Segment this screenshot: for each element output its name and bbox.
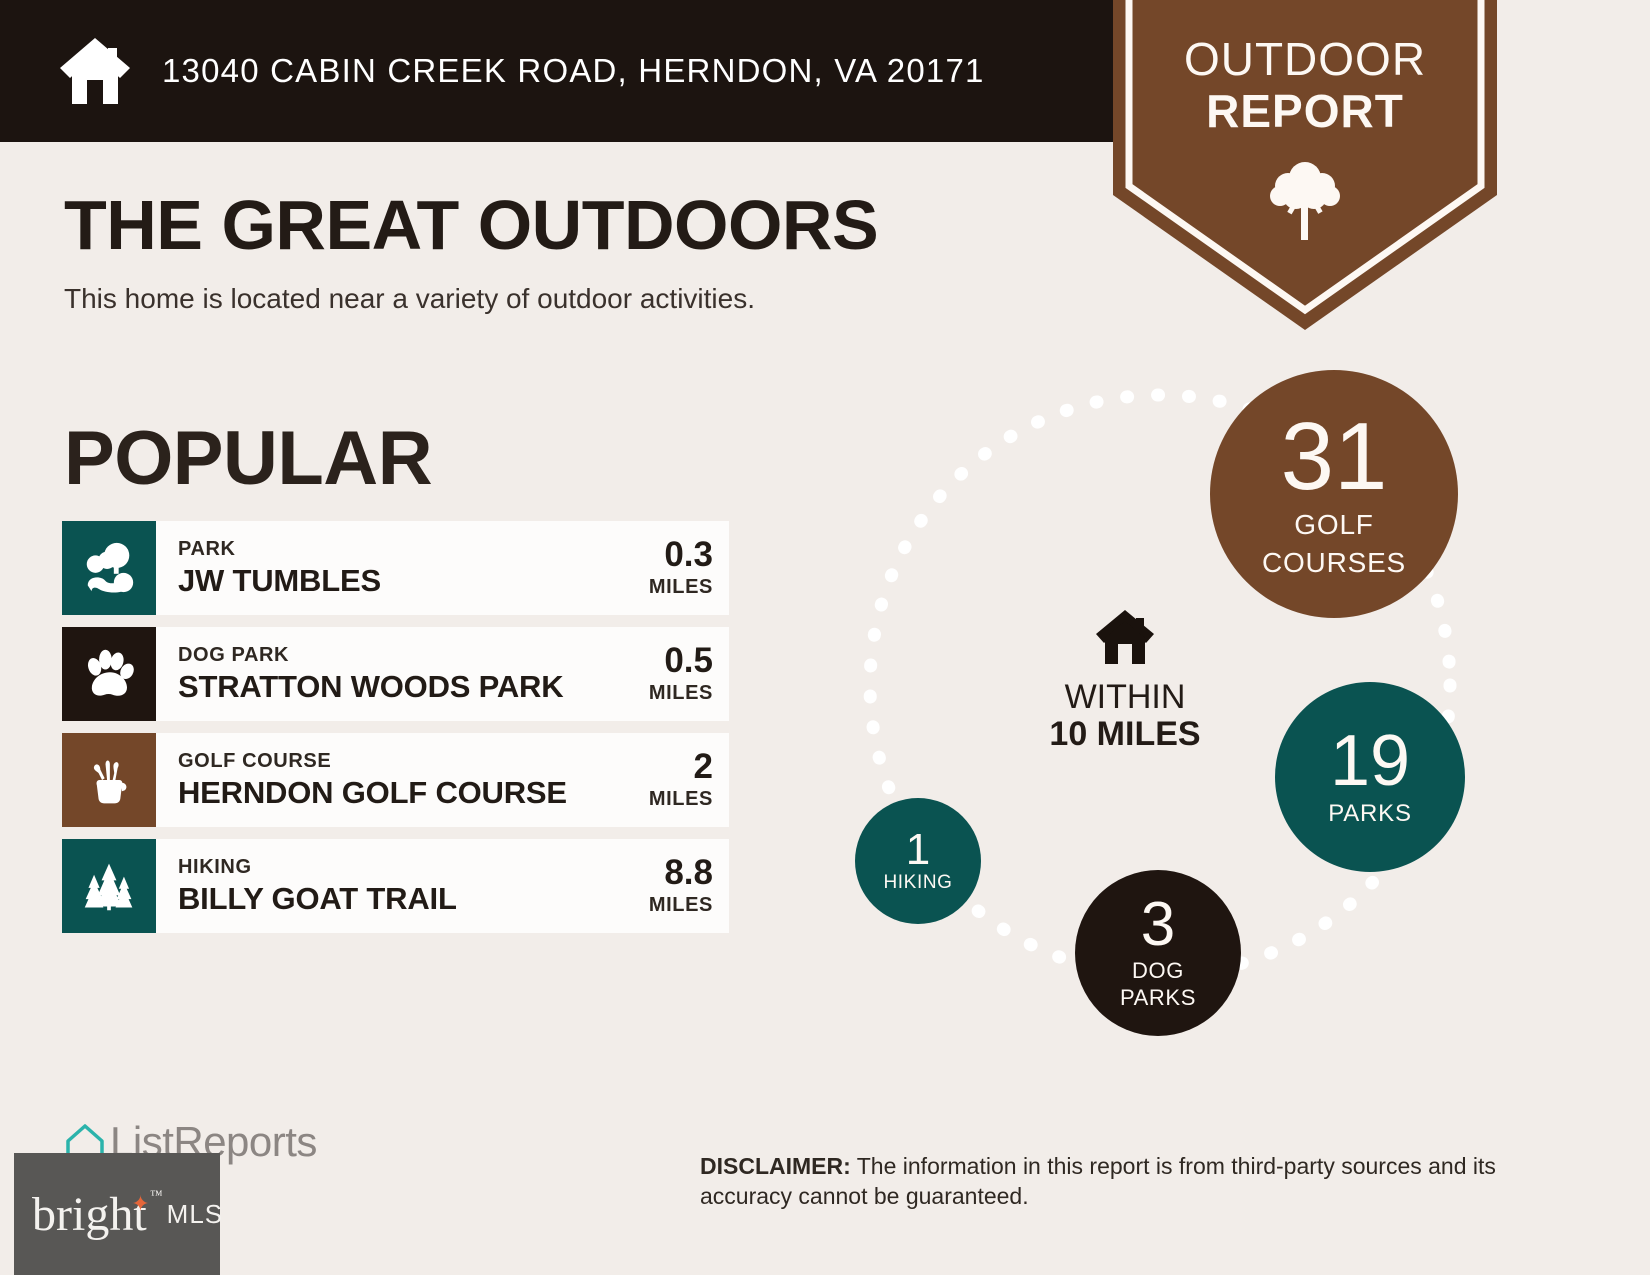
list-item-distance: 2 MILES: [627, 749, 713, 811]
home-icon: [1094, 608, 1156, 666]
list-item-category: HIKING: [178, 856, 457, 878]
list-item-name: HERNDON GOLF COURSE: [178, 775, 567, 811]
stat-label-line-1: PARKS: [1328, 801, 1412, 826]
list-item-distance: 0.5 MILES: [627, 643, 713, 705]
disclaimer-label: DISCLAIMER:: [700, 1153, 851, 1179]
list-item-distance: 8.8 MILES: [627, 855, 713, 917]
distance-value: 8.8: [664, 855, 713, 890]
stat-bubble-dog-parks[interactable]: 3 DOG PARKS: [1075, 870, 1241, 1036]
bright-star-icon: ✦: [131, 1191, 149, 1217]
bright-wordmark: bright ✦ ™: [32, 1187, 147, 1242]
bright-mls-logo: bright ✦ ™ MLS: [14, 1153, 220, 1275]
list-item[interactable]: DOG PARK STRATTON WOODS PARK 0.5 MILES: [62, 627, 729, 721]
home-icon: [58, 36, 132, 106]
list-item-icon-tile: [62, 839, 156, 933]
bright-text: bright: [32, 1188, 147, 1241]
stat-label-line-1: DOG: [1132, 959, 1184, 982]
stat-bubble-hiking[interactable]: 1 HIKING: [855, 798, 981, 924]
list-item-body: PARK JW TUMBLES 0.3 MILES: [156, 521, 729, 615]
stat-label-line-2: COURSES: [1262, 548, 1406, 578]
park-tree-path-icon: [80, 539, 138, 597]
distance-unit: MILES: [649, 788, 713, 811]
list-item-icon-tile: [62, 733, 156, 827]
golf-bag-icon: [83, 754, 135, 806]
pine-trees-icon: [81, 858, 137, 914]
diagram-center: WITHIN 10 MILES: [1010, 608, 1240, 753]
distance-value: 0.5: [664, 643, 713, 678]
stat-bubble-golf-courses[interactable]: 31 GOLF COURSES: [1210, 370, 1458, 618]
list-item[interactable]: GOLF COURSE HERNDON GOLF COURSE 2 MILES: [62, 733, 729, 827]
list-item-icon-tile: [62, 627, 156, 721]
list-item-name: STRATTON WOODS PARK: [178, 669, 563, 705]
badge-line-1: OUTDOOR: [1113, 36, 1497, 82]
list-item-body: DOG PARK STRATTON WOODS PARK 0.5 MILES: [156, 627, 729, 721]
center-line-2: 10 MILES: [1010, 716, 1240, 753]
header-bar: 13040 CABIN CREEK ROAD, HERNDON, VA 2017…: [0, 0, 1272, 142]
list-item-category: PARK: [178, 538, 381, 560]
badge-title: OUTDOOR REPORT: [1113, 36, 1497, 134]
stat-count: 3: [1141, 896, 1175, 955]
stat-label-line-1: GOLF: [1294, 510, 1373, 540]
within-10-miles-diagram: WITHIN 10 MILES 31 GOLF COURSES 19 PARKS…: [820, 360, 1520, 1060]
list-item-body: GOLF COURSE HERNDON GOLF COURSE 2 MILES: [156, 733, 729, 827]
page-title: THE GREAT OUTDOORS: [64, 190, 878, 261]
list-item[interactable]: HIKING BILLY GOAT TRAIL 8.8 MILES: [62, 839, 729, 933]
bright-mls-text: MLS: [167, 1199, 223, 1230]
list-item-name: JW TUMBLES: [178, 563, 381, 599]
distance-value: 0.3: [664, 537, 713, 572]
outdoor-report-badge: OUTDOOR REPORT: [1113, 0, 1497, 330]
bright-tm-mark: ™: [150, 1187, 163, 1203]
list-item-body: HIKING BILLY GOAT TRAIL 8.8 MILES: [156, 839, 729, 933]
list-item-icon-tile: [62, 521, 156, 615]
stat-label-line-2: PARKS: [1120, 986, 1196, 1009]
popular-section-title: POPULAR: [64, 415, 432, 502]
property-address: 13040 CABIN CREEK ROAD, HERNDON, VA 2017…: [162, 52, 985, 90]
stat-label-line-1: HIKING: [883, 873, 952, 893]
list-item-category: DOG PARK: [178, 644, 563, 666]
stat-count: 19: [1330, 727, 1410, 795]
title-block: THE GREAT OUTDOORS This home is located …: [64, 190, 878, 315]
stat-count: 1: [906, 829, 930, 871]
list-item-distance: 0.3 MILES: [627, 537, 713, 599]
list-item-name: BILLY GOAT TRAIL: [178, 881, 457, 917]
page-subtitle: This home is located near a variety of o…: [64, 283, 878, 315]
list-item[interactable]: PARK JW TUMBLES 0.3 MILES: [62, 521, 729, 615]
distance-unit: MILES: [649, 682, 713, 705]
distance-unit: MILES: [649, 576, 713, 599]
disclaimer: DISCLAIMER: The information in this repo…: [700, 1152, 1520, 1212]
stat-count: 31: [1281, 411, 1388, 502]
stat-bubble-parks[interactable]: 19 PARKS: [1275, 682, 1465, 872]
popular-list: PARK JW TUMBLES 0.3 MILES: [62, 521, 729, 945]
center-line-1: WITHIN: [1010, 680, 1240, 716]
paw-print-icon: [82, 647, 136, 701]
distance-value: 2: [694, 749, 713, 784]
list-item-category: GOLF COURSE: [178, 750, 567, 772]
distance-unit: MILES: [649, 894, 713, 917]
badge-line-2: REPORT: [1113, 88, 1497, 134]
tree-icon: [1266, 158, 1344, 240]
